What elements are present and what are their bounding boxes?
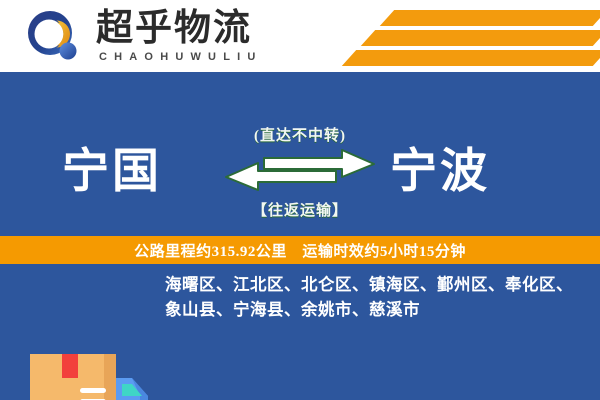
circle-swoosh-logo-icon — [26, 9, 82, 65]
poster-body: 宁国 (直达不中转) 【往返运输】 宁波 公路里程约315.92公里 运输时效约… — [0, 72, 600, 400]
origin-city: 宁国 — [62, 144, 162, 200]
destination-city: 宁波 — [390, 144, 490, 200]
header-stripes-decoration — [330, 0, 600, 72]
stripe-3 — [342, 50, 600, 66]
route-middle: (直达不中转) 【往返运输】 — [215, 122, 385, 232]
poster-header: 超乎物流 CHAOHUWULIU — [0, 0, 600, 72]
direct-shipping-note: (直达不中转) — [215, 124, 385, 145]
route-section: 宁国 (直达不中转) 【往返运输】 宁波 — [0, 122, 600, 232]
double-arrow-icon — [224, 149, 376, 191]
logistics-route-poster: 超乎物流 CHAOHUWULIU 宁国 (直达不中转) — [0, 0, 600, 400]
stripe-2 — [361, 30, 600, 46]
stripe-1 — [380, 10, 600, 26]
coverage-area-list: 海曙区、江北区、北仑区、镇海区、鄞州区、奉化区、象山县、宁海县、余姚市、慈溪市 — [165, 272, 585, 322]
round-trip-note: 【往返运输】 — [215, 199, 385, 220]
distance-duration-bar: 公路里程约315.92公里 运输时效约5小时15分钟 — [0, 236, 600, 264]
brand-name-chinese: 超乎物流 — [96, 8, 252, 50]
brand-name-pinyin: CHAOHUWULIU — [99, 51, 263, 63]
distance-duration-text: 公路里程约315.92公里 运输时效约5小时15分钟 — [134, 240, 466, 261]
delivery-truck-icon — [18, 350, 158, 400]
